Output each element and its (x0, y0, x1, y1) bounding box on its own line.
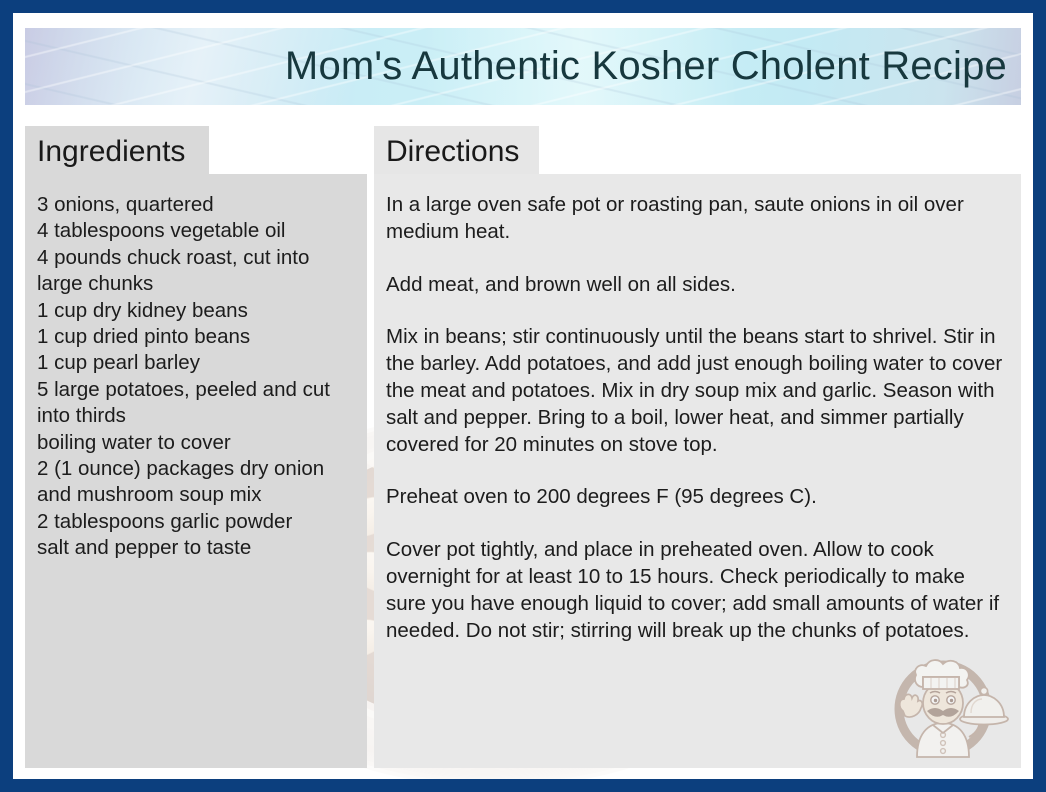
directions-heading: Directions (386, 137, 519, 167)
list-item: salt and pepper to taste (37, 535, 353, 561)
page-title: Mom's Authentic Kosher Cholent Recipe (285, 45, 1007, 87)
direction-step: In a large oven safe pot or roasting pan… (386, 192, 1007, 246)
direction-step: Cover pot tightly, and place in preheate… (386, 537, 1007, 644)
direction-step: Mix in beans; stir continuously until th… (386, 324, 1007, 458)
direction-step: Preheat oven to 200 degrees F (95 degree… (386, 484, 1007, 511)
recipe-card-inner: Mom's Authentic Kosher Cholent Recipe (13, 13, 1033, 779)
ingredients-body: 3 onions, quartered 4 tablespoons vegeta… (25, 174, 367, 768)
direction-step: Add meat, and brown well on all sides. (386, 272, 1007, 299)
list-item: 4 pounds chuck roast, cut into large chu… (37, 245, 353, 298)
list-item: 2 tablespoons garlic powder (37, 509, 353, 535)
list-item: 1 cup pearl barley (37, 350, 353, 376)
list-item: 1 cup dry kidney beans (37, 298, 353, 324)
title-banner: Mom's Authentic Kosher Cholent Recipe (25, 28, 1021, 105)
ingredients-tab: Ingredients (25, 126, 209, 174)
list-item: 4 tablespoons vegetable oil (37, 218, 353, 244)
list-item: 5 large potatoes, peeled and cut into th… (37, 377, 353, 430)
directions-panel: Directions In a large oven safe pot or r… (374, 126, 1021, 768)
list-item: boiling water to cover (37, 430, 353, 456)
recipe-card: Mom's Authentic Kosher Cholent Recipe (0, 0, 1046, 792)
ingredients-panel: Ingredients 3 onions, quartered 4 tables… (25, 126, 367, 768)
ingredient-list: 3 onions, quartered 4 tablespoons vegeta… (37, 192, 353, 562)
list-item: 1 cup dried pinto beans (37, 324, 353, 350)
ingredients-heading: Ingredients (37, 137, 185, 167)
list-item: 2 (1 ounce) packages dry onion and mushr… (37, 456, 353, 509)
directions-tab: Directions (374, 126, 539, 174)
list-item: 3 onions, quartered (37, 192, 353, 218)
directions-body: In a large oven safe pot or roasting pan… (374, 174, 1021, 768)
